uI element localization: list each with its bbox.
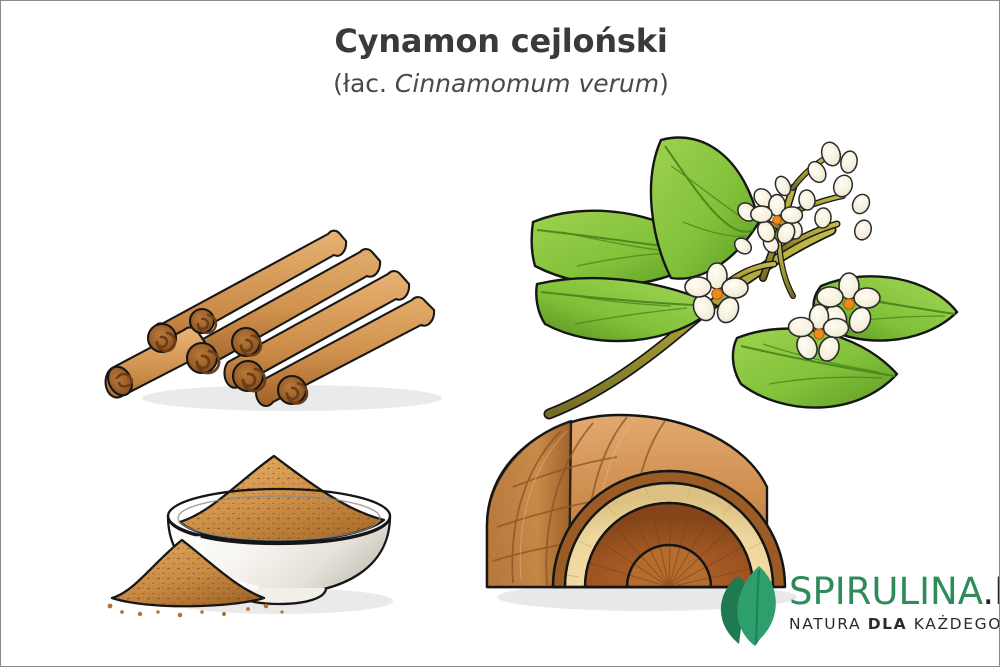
logo-tagline-word-1: NATURA <box>789 615 861 633</box>
page-title: Cynamon cejloński <box>1 23 1000 60</box>
cinnamon-roll-end-d <box>278 376 307 404</box>
subtitle-suffix: ) <box>659 69 669 98</box>
poster-canvas: Cynamon cejloński (łac. Cinnamomum verum… <box>0 0 1000 667</box>
logo-tagline-word-3: KAŻDEGO <box>914 615 1000 633</box>
subtitle-latin-name: Cinnamomum verum <box>395 69 659 98</box>
logo-tagline-word-2: DLA <box>868 615 908 633</box>
title-block: Cynamon cejloński (łac. Cinnamomum verum… <box>1 23 1000 99</box>
logo-brand: SPIRULINA.PL <box>789 573 1000 610</box>
brand-logo[interactable]: SPIRULINA.PL NATURA DLA KAŻDEGO <box>713 559 993 647</box>
cinnamon-roll-end-a <box>148 324 176 352</box>
powder-mound-in-bowl <box>180 456 384 542</box>
subtitle-prefix: (łac. <box>333 69 395 98</box>
logo-tagline: NATURA DLA KAŻDEGO <box>789 615 1000 633</box>
cinnamon-branch-illustration <box>531 126 961 436</box>
logo-brand-primary: SPIRULINA <box>789 570 982 613</box>
cinnamon-powder-bowl-illustration <box>106 436 416 626</box>
cinnamon-sticks-illustration <box>96 216 461 416</box>
logo-text-block: SPIRULINA.PL NATURA DLA KAŻDEGO <box>789 573 1000 633</box>
cinnamon-roll-end-e <box>232 328 261 356</box>
logo-brand-suffix: .PL <box>982 570 1000 613</box>
spirulina-leaf-icon <box>713 560 785 646</box>
page-subtitle: (łac. Cinnamomum verum) <box>1 70 1000 99</box>
